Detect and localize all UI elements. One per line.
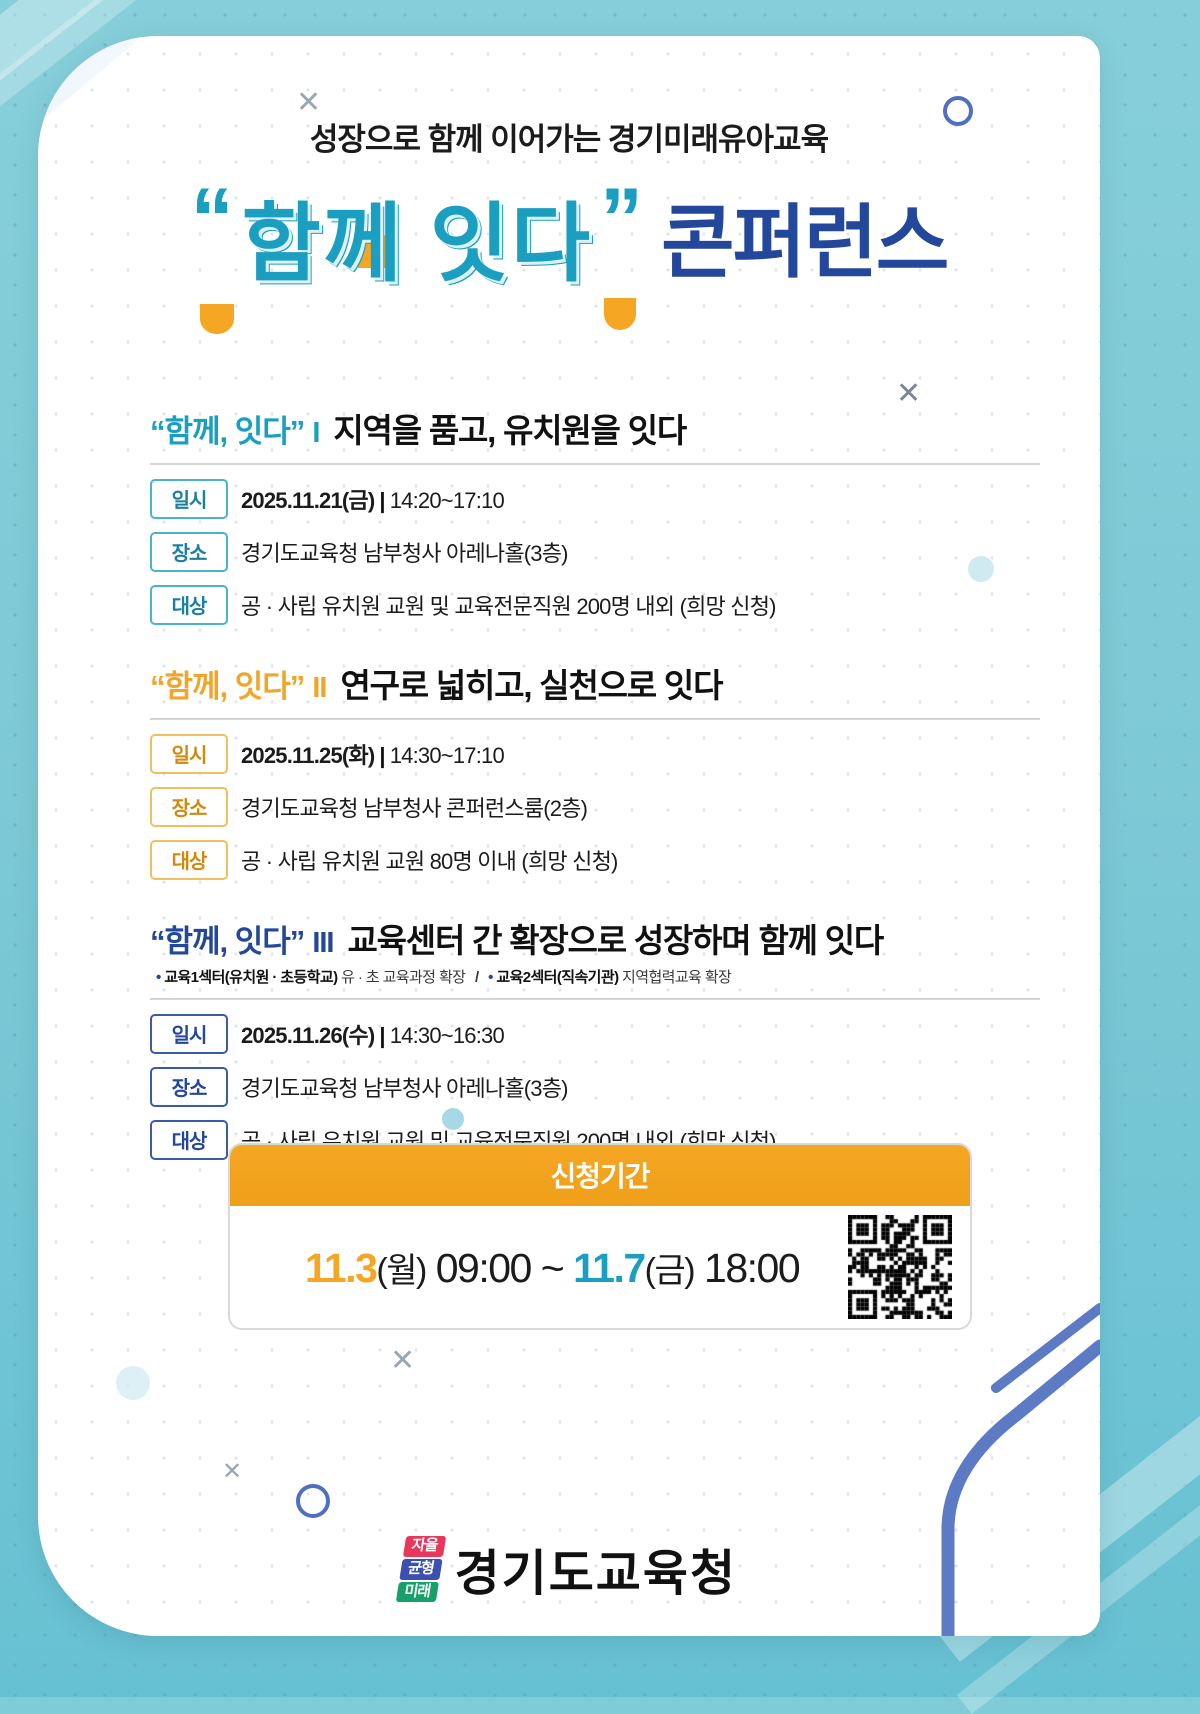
poster-card: ✕ ✕ ✕ ✕ 성장으로 함께 이어가는 경기미래유아교육 “ 함께 잇다 ” … <box>38 36 1100 1636</box>
logo-tag-autonomy: 자율 <box>403 1536 446 1557</box>
note-bold-second: 교육2섹터(직속기관) <box>496 969 618 986</box>
section-title: 연구로 넓히고, 실천으로 잇다 <box>340 659 722 707</box>
section-heading: “함께, 잇다” I 지역을 품고, 유치원을 잇다 <box>150 404 1040 452</box>
bullet-icon: • <box>156 969 161 986</box>
detail-row: 장소 경기도교육청 남부청사 아레나홀(3층) <box>150 1067 1040 1107</box>
section-heading: “함께, 잇다” III 교육센터 간 확장으로 성장하며 함께 잇다 <box>150 914 1040 962</box>
section-tag: “함께, 잇다” <box>150 916 304 961</box>
detail-text: 2025.11.25(화)|14:30~17:10 <box>241 738 504 770</box>
section-tag: “함께, 잇다” <box>150 661 304 706</box>
section-title: 지역을 품고, 유치원을 잇다 <box>333 404 686 452</box>
end-day: (금) <box>645 1252 694 1290</box>
title-accent-orange <box>200 304 234 334</box>
poster-title-main: 함께 잇다 <box>242 173 592 298</box>
application-period-body: 11.3(월) 09:00 ~ 11.7(금) 18:00 <box>230 1206 970 1328</box>
start-date: 11.3 <box>305 1245 377 1291</box>
section-heading: “함께, 잇다” II 연구로 넓히고, 실천으로 잇다 <box>150 659 1040 707</box>
note-separator: / <box>475 969 479 986</box>
detail-row: 장소 경기도교육청 남부청사 아레나홀(3층) <box>150 532 1040 572</box>
logo-tag-balance: 균형 <box>399 1559 442 1580</box>
application-period-box: 신청기간 11.3(월) 09:00 ~ 11.7(금) 18:00 <box>228 1143 972 1330</box>
program-section: “함께, 잇다” I 지역을 품고, 유치원을 잇다 일시 2025.11.21… <box>150 404 1040 625</box>
application-period-heading: 신청기간 <box>230 1145 970 1206</box>
application-period-dates: 11.3(월) 09:00 ~ 11.7(금) 18:00 <box>305 1243 799 1292</box>
note-plain-second: 지역협력교육 확장 <box>622 969 731 986</box>
decorative-circle-outline-bottom <box>296 1484 330 1518</box>
detail-text: 경기도교육청 남부청사 아레나홀(3층) <box>241 536 568 568</box>
detail-text: 경기도교육청 남부청사 아레나홀(3층) <box>241 1071 568 1103</box>
note-bold-first: 교육1섹터(유치원 · 초등학교) <box>164 969 337 986</box>
section-note: • 교육1섹터(유치원 · 초등학교) 유 · 초 교육과정 확장 / • 교육… <box>156 966 1040 987</box>
detail-row: 대상 공 · 사립 유치원 교원 및 교육전문직원 200명 내외 (희망 신청… <box>150 585 1040 625</box>
title-accent-orange <box>604 298 636 330</box>
x-mark-icon: ✕ <box>222 1460 242 1484</box>
bullet-icon: • <box>488 969 493 986</box>
poster-subtitle: 성장으로 함께 이어가는 경기미래유아교육 <box>38 114 1100 159</box>
x-mark-icon: ✕ <box>390 1346 415 1376</box>
detail-row: 일시 2025.11.25(화)|14:30~17:10 <box>150 734 1040 774</box>
end-time: 18:00 <box>704 1245 799 1291</box>
detail-chip-venue: 장소 <box>150 1067 228 1107</box>
program-section: “함께, 잇다” II 연구로 넓히고, 실천으로 잇다 일시 2025.11.… <box>150 659 1040 880</box>
poster-header: 성장으로 함께 이어가는 경기미래유아교육 “ 함께 잇다 ” 콘퍼런스 <box>38 114 1100 298</box>
logo-tag-group: 자율 균형 미래 <box>396 1536 446 1602</box>
detail-chip-audience: 대상 <box>150 840 228 880</box>
detail-chip-venue: 장소 <box>150 787 228 827</box>
section-title: 교육센터 간 확장으로 성장하며 함께 잇다 <box>347 914 883 962</box>
qr-code-icon[interactable] <box>848 1215 952 1319</box>
section-roman-numeral: I <box>312 417 319 450</box>
program-sections: “함께, 잇다” I 지역을 품고, 유치원을 잇다 일시 2025.11.21… <box>150 404 1040 1194</box>
poster-title-row: “ 함께 잇다 ” 콘퍼런스 <box>38 173 1100 298</box>
detail-chip-date: 일시 <box>150 1014 228 1054</box>
detail-chip-venue: 장소 <box>150 532 228 572</box>
logo-tag-future: 미래 <box>396 1582 439 1603</box>
date-range-tilde: ~ <box>541 1245 563 1291</box>
section-divider <box>150 718 1040 720</box>
section-roman-numeral: II <box>312 672 326 705</box>
detail-row: 일시 2025.11.26(수)|14:30~16:30 <box>150 1014 1040 1054</box>
section-divider <box>150 998 1040 1000</box>
section-divider <box>150 463 1040 465</box>
program-section: “함께, 잇다” III 교육센터 간 확장으로 성장하며 함께 잇다 • 교육… <box>150 914 1040 1160</box>
organization-logo: 자율 균형 미래 경기도교육청 <box>38 1534 1100 1605</box>
decorative-blob-pale <box>116 1366 150 1400</box>
poster-title-conference: 콘퍼런스 <box>661 178 947 294</box>
detail-row: 대상 공 · 사립 유치원 교원 80명 이내 (희망 신청) <box>150 840 1040 880</box>
detail-chip-audience: 대상 <box>150 585 228 625</box>
detail-text: 경기도교육청 남부청사 콘퍼런스룸(2층) <box>241 791 587 823</box>
detail-chip-date: 일시 <box>150 734 228 774</box>
quote-close-icon: ” <box>600 194 643 246</box>
quote-open-icon: “ <box>191 194 234 246</box>
section-roman-numeral: III <box>312 927 333 960</box>
detail-text: 공 · 사립 유치원 교원 80명 이내 (희망 신청) <box>241 844 618 876</box>
note-plain-first: 유 · 초 교육과정 확장 <box>341 969 465 986</box>
organization-name: 경기도교육청 <box>455 1534 737 1605</box>
start-day: (월) <box>376 1252 425 1290</box>
detail-text: 2025.11.26(수)|14:30~16:30 <box>241 1018 504 1050</box>
detail-text: 2025.11.21(금)|14:20~17:10 <box>241 483 504 515</box>
detail-text: 공 · 사립 유치원 교원 및 교육전문직원 200명 내외 (희망 신청) <box>241 589 776 621</box>
detail-chip-audience: 대상 <box>150 1120 228 1160</box>
detail-row: 장소 경기도교육청 남부청사 콘퍼런스룸(2층) <box>150 787 1040 827</box>
detail-row: 일시 2025.11.21(금)|14:20~17:10 <box>150 479 1040 519</box>
end-date: 11.7 <box>573 1245 645 1291</box>
detail-chip-date: 일시 <box>150 479 228 519</box>
start-time: 09:00 <box>436 1245 531 1291</box>
section-tag: “함께, 잇다” <box>150 406 304 451</box>
